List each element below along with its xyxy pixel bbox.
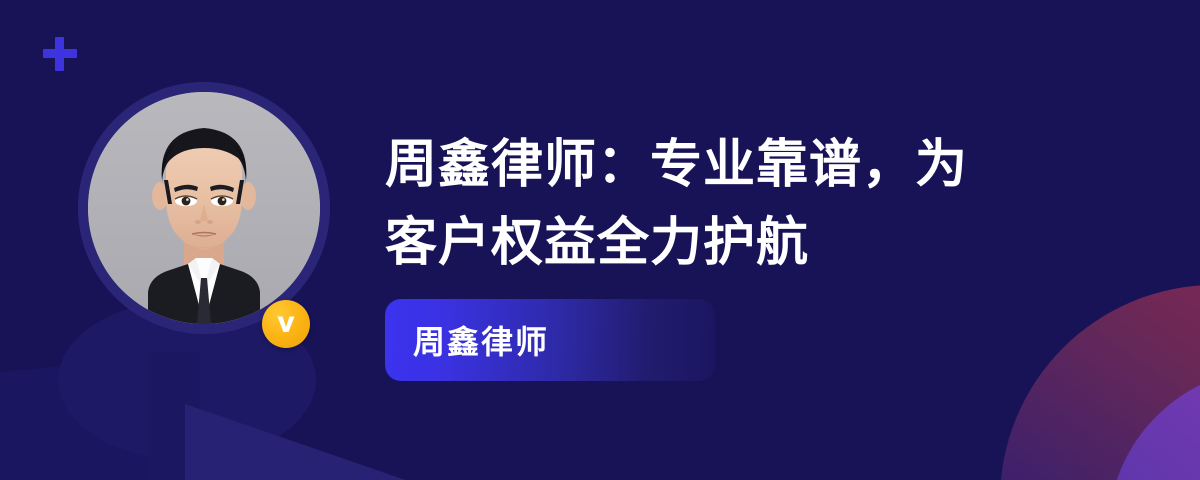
avatar-photo bbox=[88, 92, 320, 324]
page-title: 周鑫律师：专业靠谱，为 客户权益全力护航 bbox=[385, 126, 1085, 282]
verified-check-icon bbox=[262, 300, 310, 348]
headline-block: 周鑫律师：专业靠谱，为 客户权益全力护航 bbox=[385, 126, 1085, 282]
profile-banner: 周鑫律师：专业靠谱，为 客户权益全力护航 周鑫律师 bbox=[0, 0, 1200, 480]
lawyer-name-button[interactable]: 周鑫律师 bbox=[385, 299, 715, 381]
avatar bbox=[78, 82, 330, 334]
plus-icon bbox=[42, 36, 78, 72]
